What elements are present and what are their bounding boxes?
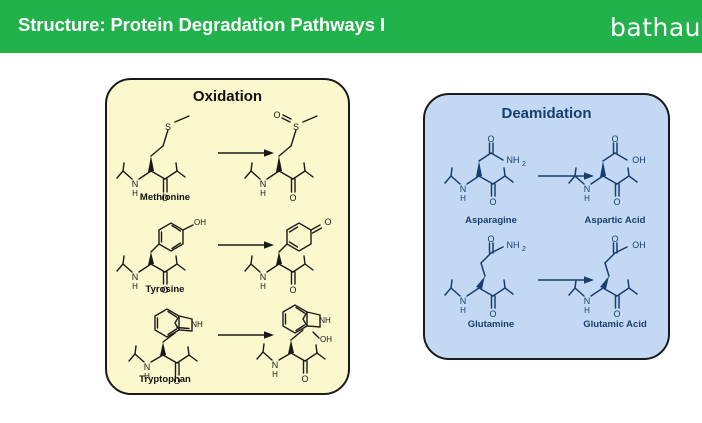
deamidation-panel: Deamidation (423, 93, 670, 360)
reaction-row-tyrosine: OH N H O Tyrosine (107, 200, 348, 296)
oxidation-panel-title: Oxidation (107, 88, 348, 105)
svg-text:2: 2 (522, 161, 526, 168)
glutamic-acid-structure: O OH N H O (563, 235, 667, 331)
svg-text:H: H (272, 370, 278, 379)
svg-text:H: H (260, 189, 266, 198)
svg-text:N: N (260, 272, 267, 282)
svg-text:H: H (460, 306, 466, 315)
svg-text:N: N (460, 184, 467, 194)
svg-text:O: O (613, 197, 620, 207)
svg-text:O: O (273, 110, 280, 120)
molecule-tryptophan: NH N H O Tryptophan (113, 290, 217, 386)
slide-header-bar: Structure: Protein Degradation Pathways … (0, 0, 702, 53)
svg-text:NH: NH (507, 155, 520, 165)
asparagine-structure: O NH 2 N H O (439, 131, 543, 227)
molecule-label: Aspartic Acid (563, 215, 667, 226)
svg-text:O: O (324, 217, 331, 227)
quinone-structure: O N H O (241, 200, 345, 296)
svg-text:O: O (611, 134, 618, 144)
svg-text:OH: OH (320, 335, 332, 344)
svg-text:O: O (611, 235, 618, 244)
svg-text:N: N (460, 296, 467, 306)
molecule-glutamic-acid: O OH N H O Glutamic Acid (563, 235, 667, 331)
svg-text:O: O (487, 134, 494, 144)
svg-text:H: H (584, 306, 590, 315)
molecule-quinone: O N H O (241, 200, 345, 296)
bathaus-logo: bathaus (610, 13, 702, 42)
svg-text:O: O (489, 309, 496, 319)
page-title: Structure: Protein Degradation Pathways … (18, 14, 385, 36)
oxidation-panel: Oxidation (105, 78, 350, 395)
svg-text:OH: OH (632, 240, 646, 250)
svg-text:H: H (460, 194, 466, 203)
molecule-methionine-sulfoxide: S O N H O (241, 108, 345, 204)
oxindolylalanine-structure: NH OH N H O (241, 290, 345, 386)
svg-text:H: H (584, 194, 590, 203)
reaction-row-methionine: S N H O Methionine (107, 108, 348, 204)
molecule-tyrosine: OH N H O Tyrosine (113, 200, 217, 296)
svg-text:O: O (489, 197, 496, 207)
molecule-aspartic-acid: O OH N H O Aspartic Acid (563, 131, 667, 227)
methionine-structure: S N H O (113, 108, 217, 204)
svg-text:NH: NH (507, 240, 520, 250)
molecule-glutamine: O NH 2 N H O Glutamine (439, 235, 543, 331)
svg-text:N: N (272, 360, 279, 370)
svg-text:S: S (165, 122, 171, 132)
deamidation-panel-title: Deamidation (425, 105, 668, 122)
reaction-row-glutamine: O NH 2 N H O Glutamine (425, 235, 668, 331)
svg-text:N: N (260, 179, 267, 189)
molecule-label: Glutamine (439, 319, 543, 330)
svg-text:N: N (132, 179, 139, 189)
methionine-sulfoxide-structure: S O N H O (241, 108, 345, 204)
aspartic-acid-structure: O OH N H O (563, 131, 667, 227)
svg-text:NH: NH (191, 320, 203, 329)
glutamine-structure: O NH 2 N H O (439, 235, 543, 331)
reaction-row-tryptophan: NH N H O Tryptophan (107, 290, 348, 386)
molecule-label: Glutamic Acid (563, 319, 667, 330)
svg-text:S: S (293, 122, 299, 132)
svg-text:N: N (584, 184, 591, 194)
tryptophan-structure: NH N H O (113, 290, 217, 386)
tyrosine-structure: OH N H O (113, 200, 217, 296)
svg-text:N: N (144, 362, 151, 372)
svg-text:NH: NH (319, 316, 331, 325)
molecule-label: Asparagine (439, 215, 543, 226)
svg-text:N: N (584, 296, 591, 306)
svg-text:OH: OH (632, 155, 646, 165)
svg-text:O: O (487, 235, 494, 244)
svg-text:O: O (613, 309, 620, 319)
svg-text:N: N (132, 272, 139, 282)
molecule-methionine: S N H O Methionine (113, 108, 217, 204)
reaction-row-asparagine: O NH 2 N H O Asparagine (425, 131, 668, 227)
svg-text:2: 2 (522, 246, 526, 253)
svg-text:OH: OH (194, 218, 206, 227)
molecule-label: Tryptophan (113, 374, 217, 385)
molecule-asparagine: O NH 2 N H O Asparagine (439, 131, 543, 227)
svg-text:O: O (301, 374, 308, 384)
molecule-oxindolylalanine: NH OH N H O (241, 290, 345, 386)
